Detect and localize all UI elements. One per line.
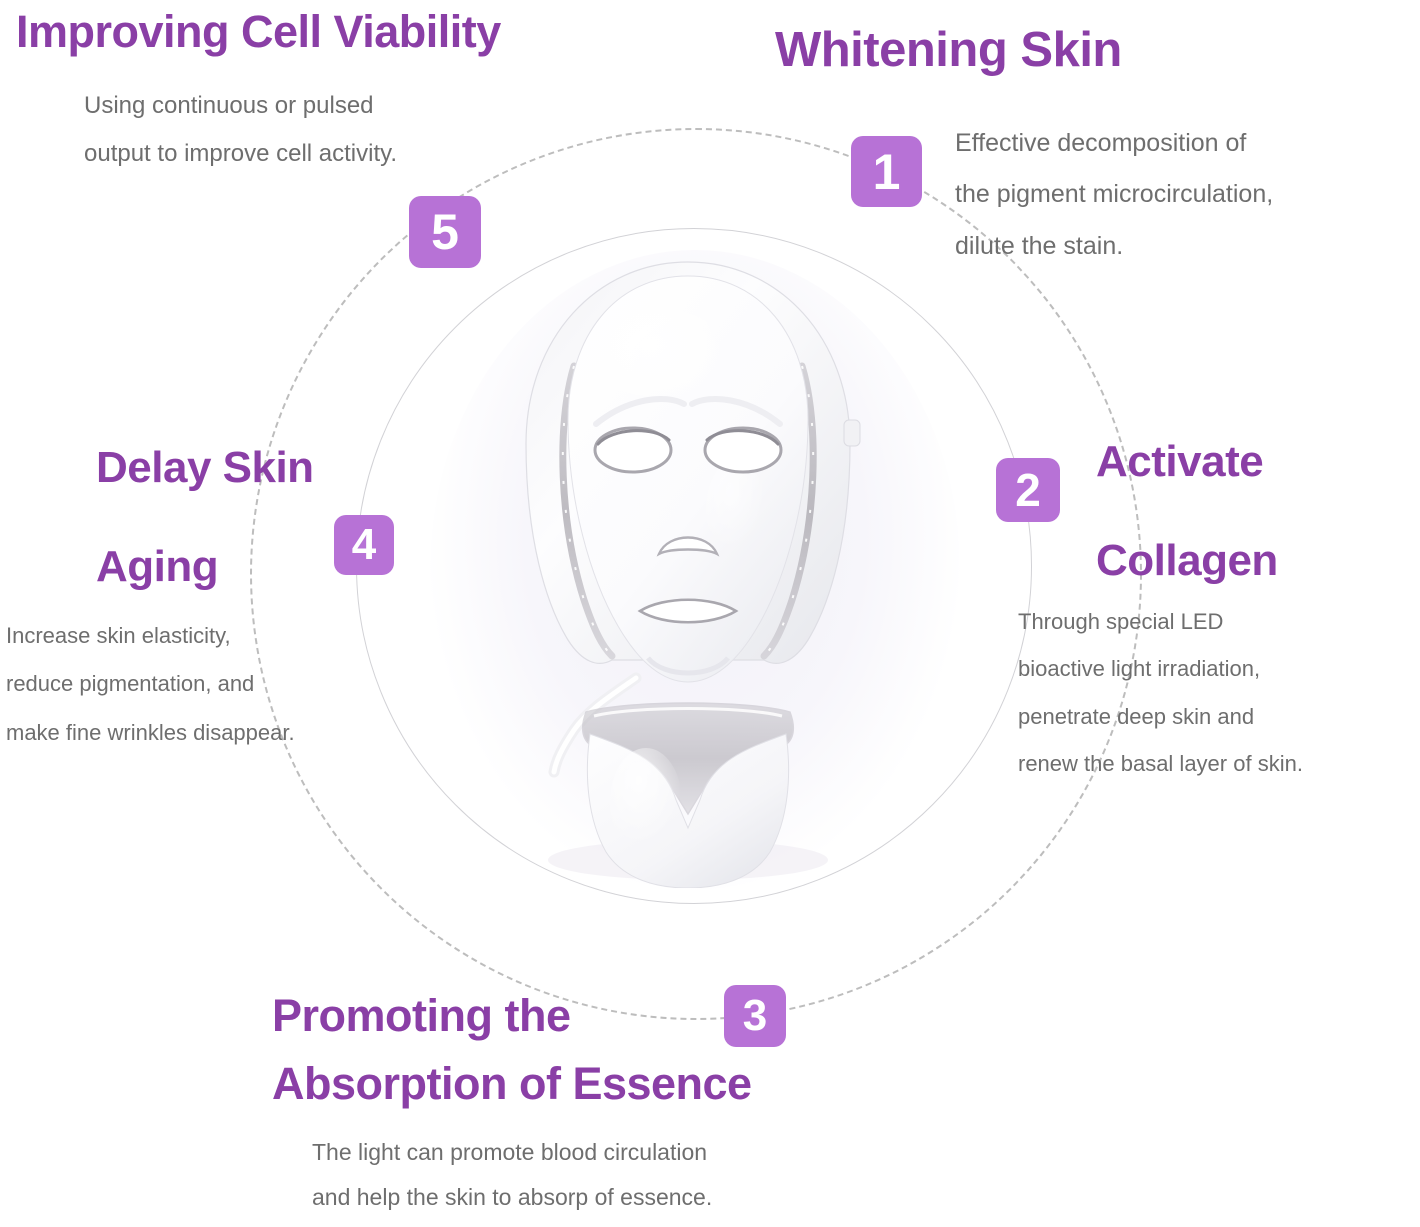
benefit-1-title-block: Whitening Skin (775, 22, 1395, 79)
benefit-1-number-badge: 1 (851, 136, 922, 207)
benefit-2-body-block: Through special LED bioactive light irra… (1018, 598, 1420, 787)
benefit-4-body-block: Increase skin elasticity, reduce pigment… (6, 612, 436, 757)
benefit-5-number-badge: 5 (409, 196, 481, 268)
benefit-3-title-line-1: Promoting the (272, 982, 972, 1050)
benefit-5-body-block: Using continuous or pulsed output to imp… (84, 82, 524, 178)
infographic-canvas: Improving Cell Viability Using continuou… (0, 0, 1420, 1227)
benefit-1-body-line-1: Effective decomposition of (955, 118, 1385, 169)
benefit-2-title-block: Activate Collagen (1096, 412, 1416, 610)
benefit-1-body-block: Effective decomposition of the pigment m… (955, 118, 1385, 272)
benefit-1-body-line-2: the pigment microcirculation, (955, 169, 1385, 220)
benefit-3-body-line-2: and help the skin to absorp of essence. (312, 1175, 912, 1220)
benefit-2-body-line-1: Through special LED (1018, 598, 1420, 645)
benefit-4-body-line-2: reduce pigmentation, and (6, 660, 436, 708)
benefit-1-title: Whitening Skin (775, 22, 1395, 79)
benefit-5-body-line-2: output to improve cell activity. (84, 130, 524, 178)
benefit-2-body-line-4: renew the basal layer of skin. (1018, 740, 1420, 787)
benefit-2-title-line-2: Collagen (1096, 511, 1416, 610)
benefit-5-title-block: Improving Cell Viability (16, 6, 716, 58)
led-facial-mask-image (478, 248, 898, 888)
benefit-1-body-line-3: dilute the stain. (955, 221, 1385, 272)
benefit-3-number-badge: 3 (724, 985, 786, 1047)
benefit-3-body-block: The light can promote blood circulation … (312, 1130, 912, 1220)
benefit-3-title-block: Promoting the Absorption of Essence (272, 982, 972, 1117)
benefit-3-title-line-2: Absorption of Essence (272, 1050, 972, 1118)
benefit-2-body-line-2: bioactive light irradiation, (1018, 645, 1420, 692)
benefit-4-body-line-3: make fine wrinkles disappear. (6, 709, 436, 757)
benefit-4-title-line-1: Delay Skin (96, 418, 426, 517)
benefit-5-body-line-1: Using continuous or pulsed (84, 82, 524, 130)
benefit-4-body-line-1: Increase skin elasticity, (6, 612, 436, 660)
benefit-3-body-line-1: The light can promote blood circulation (312, 1130, 912, 1175)
benefit-2-title-line-1: Activate (1096, 412, 1416, 511)
benefit-2-number-badge: 2 (996, 458, 1060, 522)
benefit-4-number-badge: 4 (334, 515, 394, 575)
benefit-2-body-line-3: penetrate deep skin and (1018, 693, 1420, 740)
benefit-5-title: Improving Cell Viability (16, 6, 716, 58)
